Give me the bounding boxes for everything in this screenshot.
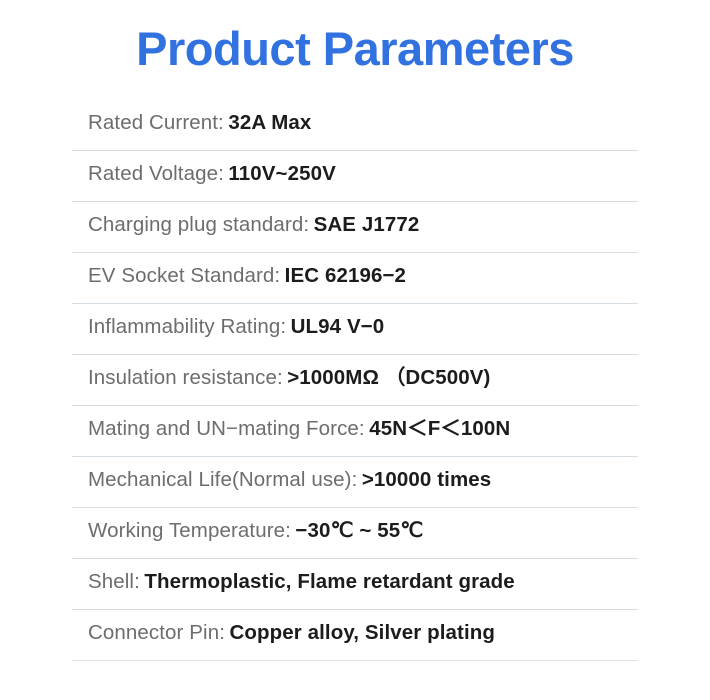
spec-line: Mating and UN−mating Force: 45N＜F＜100N	[88, 419, 510, 443]
spec-label: Rated Current:	[88, 111, 224, 134]
spec-value: IEC 62196−2	[285, 264, 406, 287]
table-row: EV Socket Standard: IEC 62196−2	[72, 253, 638, 304]
spec-value: SAE J1772	[314, 213, 420, 236]
spec-label: Insulation resistance:	[88, 366, 283, 389]
spec-label: Working Temperature:	[88, 519, 291, 542]
spec-label: Connector Pin:	[88, 621, 225, 644]
table-row: Connector Pin: Copper alloy, Silver plat…	[72, 610, 638, 661]
spec-label: Charging plug standard:	[88, 213, 309, 236]
table-row: Rated Current: 32A Max	[72, 100, 638, 151]
spec-value: UL94 V−0	[291, 315, 385, 338]
spec-value: >10000 times	[362, 468, 491, 491]
spec-line: Mechanical Life(Normal use): >10000 time…	[88, 470, 491, 494]
table-row: Insulation resistance: >1000MΩ （DC500V)	[72, 355, 638, 406]
table-row: Charging plug standard: SAE J1772	[72, 202, 638, 253]
spec-line: Working Temperature: −30℃ ~ 55℃	[88, 521, 423, 545]
specifications-table: Rated Current: 32A Max Rated Voltage: 11…	[72, 100, 638, 661]
spec-label: Shell:	[88, 570, 140, 593]
table-row: Mechanical Life(Normal use): >10000 time…	[72, 457, 638, 508]
spec-value: >1000MΩ （DC500V)	[287, 366, 490, 389]
spec-line: Charging plug standard: SAE J1772	[88, 215, 419, 239]
spec-value: Thermoplastic, Flame retardant grade	[144, 570, 514, 593]
spec-label: Inflammability Rating:	[88, 315, 286, 338]
spec-label: EV Socket Standard:	[88, 264, 280, 287]
spec-line: Rated Voltage: 110V~250V	[88, 164, 336, 188]
spec-line: Rated Current: 32A Max	[88, 113, 311, 137]
spec-line: Connector Pin: Copper alloy, Silver plat…	[88, 623, 495, 647]
spec-label: Mating and UN−mating Force:	[88, 417, 365, 440]
spec-line: EV Socket Standard: IEC 62196−2	[88, 266, 406, 290]
spec-value: 110V~250V	[228, 162, 336, 185]
spec-value: Copper alloy, Silver plating	[229, 621, 495, 644]
spec-value: −30℃ ~ 55℃	[295, 519, 423, 542]
spec-line: Shell: Thermoplastic, Flame retardant gr…	[88, 572, 515, 596]
spec-line: Insulation resistance: >1000MΩ （DC500V)	[88, 368, 490, 392]
spec-label: Rated Voltage:	[88, 162, 224, 185]
table-row: Rated Voltage: 110V~250V	[72, 151, 638, 202]
page-title: Product Parameters	[0, 24, 710, 73]
spec-value: 45N＜F＜100N	[369, 417, 510, 440]
spec-value: 32A Max	[228, 111, 311, 134]
spec-label: Mechanical Life(Normal use):	[88, 468, 357, 491]
product-parameters-sheet: Product Parameters Rated Current: 32A Ma…	[0, 0, 710, 700]
table-row: Shell: Thermoplastic, Flame retardant gr…	[72, 559, 638, 610]
spec-line: Inflammability Rating: UL94 V−0	[88, 317, 384, 341]
table-row: Mating and UN−mating Force: 45N＜F＜100N	[72, 406, 638, 457]
table-row: Working Temperature: −30℃ ~ 55℃	[72, 508, 638, 559]
table-row: Inflammability Rating: UL94 V−0	[72, 304, 638, 355]
